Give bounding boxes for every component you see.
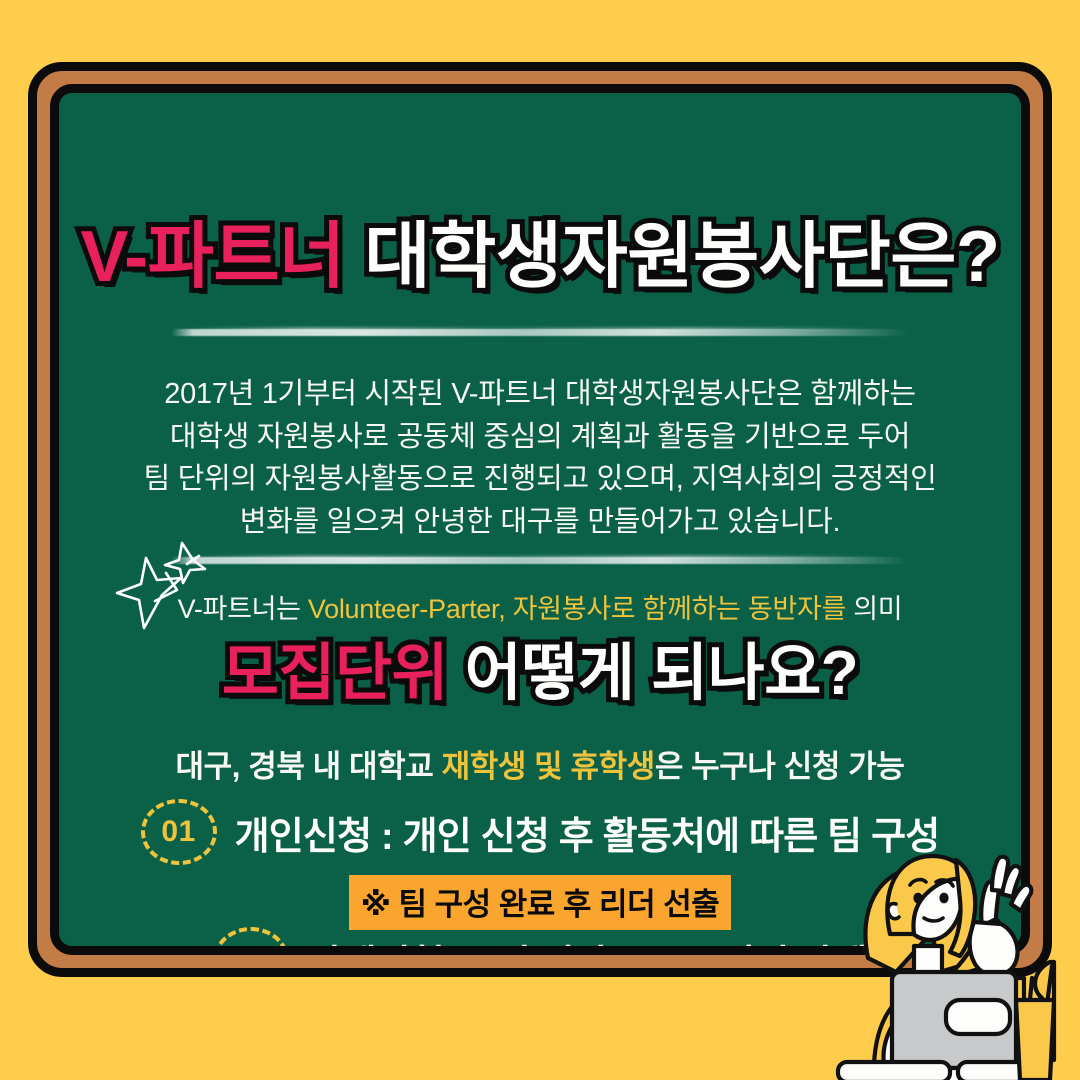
eligibility-prefix: 대구, 경북 내 대학교 (176, 749, 442, 784)
list-item-number-badge: 01 (141, 799, 217, 865)
intro-line-1: 2017년 1기부터 시작된 V-파트너 대학생자원봉사단은 함께하는 (119, 373, 961, 416)
intro-line-4: 변화를 일으켜 안녕한 대구를 만들어가고 있습니다. (119, 501, 961, 544)
section-title-highlight: 모집단위 (222, 639, 448, 708)
intro-paragraph: 2017년 1기부터 시작된 V-파트너 대학생자원봉사단은 함께하는 대학생 … (119, 373, 961, 544)
meaning-prefix: V-파트너는 (178, 594, 308, 624)
page-title-highlight: V-파트너 (81, 217, 345, 297)
intro-line-3: 팀 단위의 자원봉사활동으로 진행되고 있으며, 지역사회의 긍정적인 (119, 458, 961, 501)
status-badge: ※ 팀 구성 완료 후 리더 선출 (349, 875, 732, 930)
eligibility-line: 대구, 경북 내 대학교 재학생 및 휴학생은 누구나 신청 가능 (59, 741, 1021, 786)
chalkboard: V-파트너 대학생자원봉사단은? 2017년 1기부터 시작된 V-파트너 대학… (28, 62, 1052, 977)
section-title-rest: 어떻게 되나요? (465, 639, 858, 708)
section-title: 모집단위 어떻게 되나요? (59, 643, 1021, 705)
eligibility-suffix: 은 누구나 신청 가능 (655, 749, 905, 784)
meaning-accent: Volunteer-Parter, 자원봉사로 함께하는 동반자를 (308, 594, 846, 624)
meaning-suffix: 의미 (846, 594, 902, 624)
chalkboard-surface: V-파트너 대학생자원봉사단은? 2017년 1기부터 시작된 V-파트너 대학… (50, 84, 1030, 955)
list-item: 01 개인신청 : 개인 신청 후 활동처에 따른 팀 구성 (59, 799, 1021, 865)
list-item-number-badge: 02 (213, 927, 289, 955)
list-item: 02 단체신청 : 5명 이상으로 구성된 단체 (59, 927, 1021, 955)
divider-top (171, 329, 909, 336)
eligibility-accent: 재학생 및 휴학생 (442, 749, 655, 784)
intro-line-2: 대학생 자원봉사로 공동체 중심의 계획과 활동을 기반으로 두어 (119, 416, 961, 459)
list-item-label: 개인신청 : 개인 신청 후 활동처에 따른 팀 구성 (235, 805, 940, 860)
meaning-line: V-파트너는 Volunteer-Parter, 자원봉사로 함께하는 동반자를… (59, 587, 1021, 626)
divider-bottom (171, 557, 909, 564)
list-item-label: 단체신청 : 5명 이상으로 구성된 단체 (307, 933, 866, 956)
note-row: ※ 팀 구성 완료 후 리더 선출 (59, 875, 1021, 930)
page-title: V-파트너 대학생자원봉사단은? (59, 221, 1021, 293)
page-title-rest: 대학생자원봉사단은? (364, 217, 999, 297)
